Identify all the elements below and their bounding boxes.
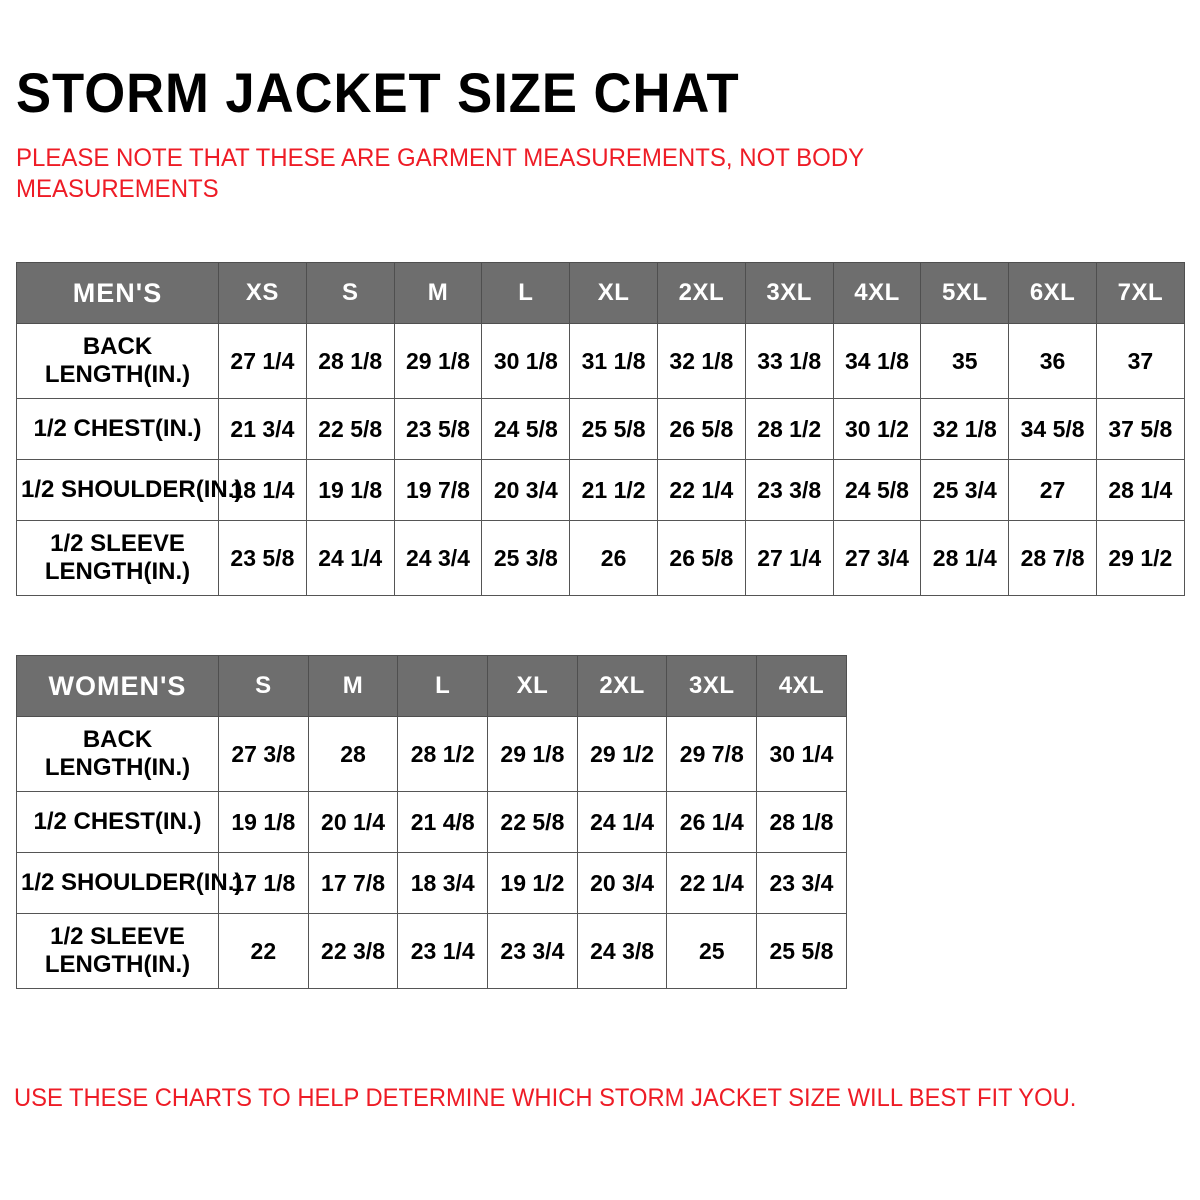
size-help-notice: USE THESE CHARTS TO HELP DETERMINE WHICH… [14,1083,1078,1113]
womens-size-header-l: L [398,656,488,717]
measurement-cell: 29 1/2 [577,717,667,792]
table-row: 1/2 CHEST(IN.)21 3/422 5/823 5/824 5/825… [17,399,1185,460]
mens-size-header-3xl: 3XL [745,263,833,324]
womens-size-header-m: M [308,656,398,717]
mens-size-header-s: S [306,263,394,324]
measurement-cell: 28 1/2 [745,399,833,460]
measurement-cell: 26 1/4 [667,792,757,853]
table-row: 1/2 SLEEVELENGTH(IN.)2222 3/823 1/423 3/… [17,914,847,989]
measurement-cell: 23 5/8 [219,521,307,596]
mens-size-header-m: M [394,263,482,324]
measurement-cell: 27 1/4 [745,521,833,596]
measurement-cell: 18 3/4 [398,853,488,914]
womens-size-table-container: WOMEN'SSMLXL2XL3XL4XL BACKLENGTH(IN.)27 … [16,655,846,989]
measurement-cell: 21 4/8 [398,792,488,853]
table-row: 1/2 CHEST(IN.)19 1/820 1/421 4/822 5/824… [17,792,847,853]
table-row: 1/2 SHOULDER(IN.)18 1/419 1/819 7/820 3/… [17,460,1185,521]
measurement-cell: 28 7/8 [1009,521,1097,596]
measurement-cell: 29 1/8 [488,717,578,792]
measurement-cell: 37 5/8 [1096,399,1184,460]
womens-group-label: WOMEN'S [17,656,219,717]
mens-size-header-xs: XS [219,263,307,324]
measurement-cell: 29 1/2 [1096,521,1184,596]
mens-size-header-6xl: 6XL [1009,263,1097,324]
measurement-cell: 24 3/8 [577,914,667,989]
measurement-cell: 27 3/4 [833,521,921,596]
measurement-cell: 28 1/8 [306,324,394,399]
measurement-cell: 20 3/4 [577,853,667,914]
measurement-cell: 37 [1096,324,1184,399]
mens-size-table: MEN'SXSSMLXL2XL3XL4XL5XL6XL7XL BACKLENGT… [16,262,1185,596]
table-row: 1/2 SHOULDER(IN.)17 1/817 7/818 3/419 1/… [17,853,847,914]
measurement-cell: 25 3/4 [921,460,1009,521]
mens-measurement-label: 1/2 CHEST(IN.) [17,399,219,460]
measurement-cell: 28 1/8 [757,792,847,853]
measurement-cell: 18 1/4 [219,460,307,521]
size-chart-page: STORM JACKET SIZE CHAT PLEASE NOTE THAT … [0,0,1200,1200]
mens-group-label: MEN'S [17,263,219,324]
mens-measurement-label: BACKLENGTH(IN.) [17,324,219,399]
measurement-cell: 17 1/8 [219,853,309,914]
measurement-cell: 19 1/8 [306,460,394,521]
measurement-cell: 28 1/4 [1096,460,1184,521]
mens-size-header-xl: XL [570,263,658,324]
measurement-cell: 30 1/4 [757,717,847,792]
measurement-cell: 22 1/4 [657,460,745,521]
measurement-cell: 28 1/2 [398,717,488,792]
womens-size-header-3xl: 3XL [667,656,757,717]
measurement-cell: 19 7/8 [394,460,482,521]
measurement-cell: 36 [1009,324,1097,399]
measurement-cell: 19 1/2 [488,853,578,914]
womens-size-header-s: S [219,656,309,717]
measurement-cell: 22 [219,914,309,989]
measurement-cell: 17 7/8 [308,853,398,914]
measurement-cell: 31 1/8 [570,324,658,399]
measurement-cell: 26 5/8 [657,399,745,460]
womens-measurement-label: 1/2 SLEEVELENGTH(IN.) [17,914,219,989]
table-row: BACKLENGTH(IN.)27 3/82828 1/229 1/829 1/… [17,717,847,792]
measurement-cell: 29 1/8 [394,324,482,399]
measurement-cell: 27 3/8 [219,717,309,792]
measurement-cell: 19 1/8 [219,792,309,853]
measurement-cell: 23 3/4 [757,853,847,914]
mens-size-header-2xl: 2XL [657,263,745,324]
womens-size-header-2xl: 2XL [577,656,667,717]
measurement-cell: 22 3/8 [308,914,398,989]
womens-table-head: WOMEN'SSMLXL2XL3XL4XL [17,656,847,717]
measurement-cell: 23 3/4 [488,914,578,989]
mens-measurement-label: 1/2 SHOULDER(IN.) [17,460,219,521]
measurement-cell: 28 1/4 [921,521,1009,596]
measurement-cell: 29 7/8 [667,717,757,792]
measurement-cell: 24 5/8 [833,460,921,521]
measurement-cell: 24 3/4 [394,521,482,596]
measurement-cell: 33 1/8 [745,324,833,399]
measurement-cell: 21 3/4 [219,399,307,460]
measurement-cell: 30 1/2 [833,399,921,460]
measurement-cell: 25 5/8 [757,914,847,989]
measurement-cell: 26 5/8 [657,521,745,596]
measurement-cell: 34 5/8 [1009,399,1097,460]
mens-size-header-5xl: 5XL [921,263,1009,324]
measurement-cell: 21 1/2 [570,460,658,521]
womens-header-row: WOMEN'SSMLXL2XL3XL4XL [17,656,847,717]
measurement-cell: 30 1/8 [482,324,570,399]
mens-table-body: BACKLENGTH(IN.)27 1/428 1/829 1/830 1/83… [17,324,1185,596]
womens-size-header-4xl: 4XL [757,656,847,717]
measurement-cell: 24 1/4 [577,792,667,853]
measurement-cell: 27 1/4 [219,324,307,399]
measurement-cell: 20 3/4 [482,460,570,521]
womens-table-body: BACKLENGTH(IN.)27 3/82828 1/229 1/829 1/… [17,717,847,989]
measurement-cell: 25 5/8 [570,399,658,460]
measurement-cell: 25 [667,914,757,989]
measurement-cell: 28 [308,717,398,792]
measurement-cell: 22 5/8 [306,399,394,460]
womens-size-header-xl: XL [488,656,578,717]
measurement-cell: 24 1/4 [306,521,394,596]
garment-measurement-notice: PLEASE NOTE THAT THESE ARE GARMENT MEASU… [16,143,938,205]
womens-measurement-label: 1/2 CHEST(IN.) [17,792,219,853]
measurement-cell: 34 1/8 [833,324,921,399]
page-title: STORM JACKET SIZE CHAT [16,62,740,124]
measurement-cell: 32 1/8 [921,399,1009,460]
mens-header-row: MEN'SXSSMLXL2XL3XL4XL5XL6XL7XL [17,263,1185,324]
womens-size-table: WOMEN'SSMLXL2XL3XL4XL BACKLENGTH(IN.)27 … [16,655,847,989]
measurement-cell: 26 [570,521,658,596]
measurement-cell: 24 5/8 [482,399,570,460]
table-row: 1/2 SLEEVELENGTH(IN.)23 5/824 1/424 3/42… [17,521,1185,596]
womens-measurement-label: BACKLENGTH(IN.) [17,717,219,792]
measurement-cell: 23 3/8 [745,460,833,521]
mens-size-header-l: L [482,263,570,324]
measurement-cell: 23 5/8 [394,399,482,460]
measurement-cell: 23 1/4 [398,914,488,989]
measurement-cell: 32 1/8 [657,324,745,399]
measurement-cell: 27 [1009,460,1097,521]
measurement-cell: 35 [921,324,1009,399]
mens-table-head: MEN'SXSSMLXL2XL3XL4XL5XL6XL7XL [17,263,1185,324]
measurement-cell: 25 3/8 [482,521,570,596]
measurement-cell: 22 5/8 [488,792,578,853]
table-row: BACKLENGTH(IN.)27 1/428 1/829 1/830 1/83… [17,324,1185,399]
mens-size-header-7xl: 7XL [1096,263,1184,324]
measurement-cell: 22 1/4 [667,853,757,914]
womens-measurement-label: 1/2 SHOULDER(IN.) [17,853,219,914]
measurement-cell: 20 1/4 [308,792,398,853]
mens-size-header-4xl: 4XL [833,263,921,324]
mens-size-table-container: MEN'SXSSMLXL2XL3XL4XL5XL6XL7XL BACKLENGT… [16,262,1184,596]
mens-measurement-label: 1/2 SLEEVELENGTH(IN.) [17,521,219,596]
